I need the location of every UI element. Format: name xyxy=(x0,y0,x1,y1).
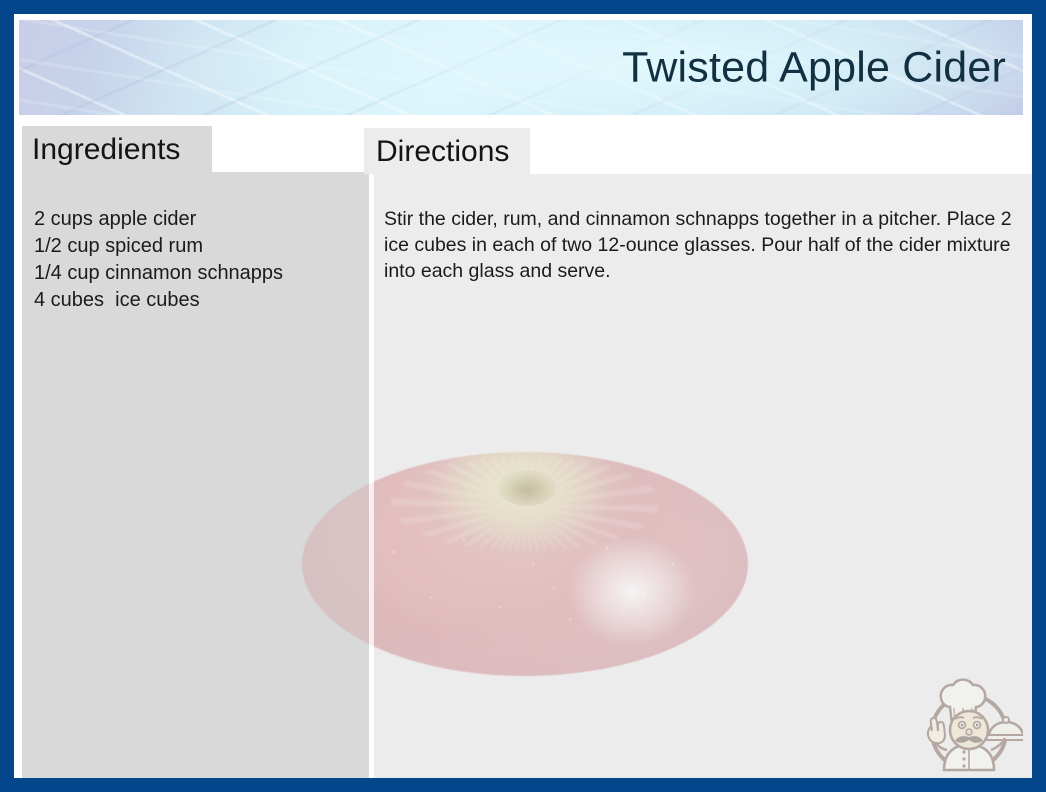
tab-directions-label: Directions xyxy=(376,135,509,168)
tab-directions[interactable]: Directions xyxy=(364,128,530,174)
tab-ingredients-label: Ingredients xyxy=(32,133,180,166)
apple-overlap-wash xyxy=(302,452,369,676)
ingredients-list: 2 cups apple cider 1/2 cup spiced rum 1/… xyxy=(34,206,361,314)
list-item: 1/2 cup spiced rum xyxy=(34,233,361,260)
list-item: 1/4 cup cinnamon schnapps xyxy=(34,260,361,287)
recipe-slide: Twisted Apple Cider Ingredients 2 cups a… xyxy=(0,0,1046,792)
waving-hand-icon xyxy=(928,718,945,743)
list-item: 2 cups apple cider xyxy=(34,206,361,233)
chef-logo xyxy=(917,666,1023,774)
list-item: 4 cubes ice cubes xyxy=(34,287,361,314)
tray-icon xyxy=(985,717,1023,740)
directions-text: Stir the cider, rum, and cinnamon schnap… xyxy=(384,206,1014,284)
tab-ingredients[interactable]: Ingredients xyxy=(22,126,212,172)
chef-face xyxy=(950,711,988,749)
panel-gap-divider xyxy=(369,174,374,786)
page-title: Twisted Apple Cider xyxy=(622,46,1006,89)
header-banner: Twisted Apple Cider xyxy=(19,20,1023,115)
slide-canvas: Twisted Apple Cider Ingredients 2 cups a… xyxy=(14,14,1032,778)
